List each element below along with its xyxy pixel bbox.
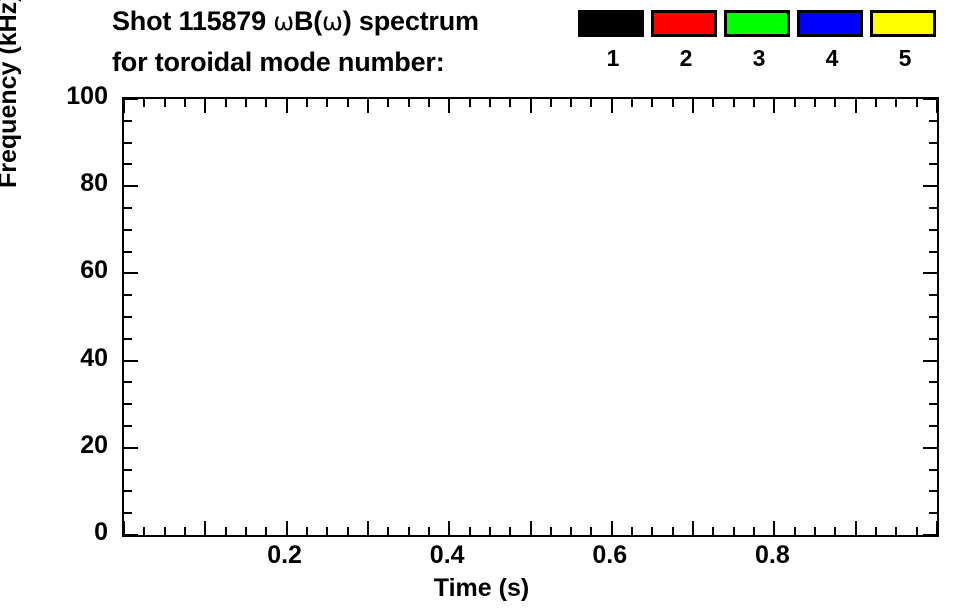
x-tick-label-0.2: 0.2 xyxy=(225,543,345,568)
x-tick-minor-0.850 xyxy=(814,527,816,535)
y-tick-minor-45 xyxy=(124,338,132,340)
x-tick-minor-0.325 xyxy=(387,527,389,535)
x-tick-top-minor-0.525 xyxy=(550,99,552,107)
x-tick-top-minor-0.850 xyxy=(814,99,816,107)
legend-label-3: 3 xyxy=(724,47,794,70)
x-tick-minor-0.750 xyxy=(733,527,735,535)
x-tick-minor-0.475 xyxy=(509,527,511,535)
y-tick-right-minor-30 xyxy=(929,403,937,405)
y-tick-right-major-0 xyxy=(923,534,937,535)
chart-title-line-2: for toroidal mode number: xyxy=(112,47,445,78)
legend-entry-4: 4 xyxy=(797,10,867,70)
x-tick-top-minor-0.475 xyxy=(509,99,511,107)
y-tick-right-minor-95 xyxy=(929,120,937,122)
y-tick-label-20: 20 xyxy=(0,433,108,458)
plot-interior xyxy=(124,99,937,535)
y-tick-minor-65 xyxy=(124,251,132,253)
x-tick-major-0.000 xyxy=(124,521,125,535)
x-tick-top-major-0.400 xyxy=(448,99,450,113)
x-tick-top-minor-0.375 xyxy=(428,99,430,107)
y-tick-minor-50 xyxy=(124,316,132,318)
x-tick-minor-0.575 xyxy=(590,527,592,535)
y-tick-minor-55 xyxy=(124,294,132,296)
y-tick-right-minor-35 xyxy=(929,381,937,383)
x-tick-major-0.900 xyxy=(855,521,857,535)
y-tick-minor-30 xyxy=(124,403,132,405)
y-tick-major-0 xyxy=(124,534,138,535)
x-tick-minor-0.675 xyxy=(672,527,674,535)
x-tick-top-major-0.100 xyxy=(204,99,206,113)
x-tick-minor-0.875 xyxy=(834,527,836,535)
y-tick-right-minor-15 xyxy=(929,469,937,471)
y-tick-right-major-40 xyxy=(923,360,937,362)
legend-entry-1: 1 xyxy=(578,10,648,70)
omega-symbol-1: ω xyxy=(273,7,294,36)
x-tick-top-minor-0.550 xyxy=(570,99,572,107)
y-tick-right-minor-5 xyxy=(929,512,937,514)
legend-label-5: 5 xyxy=(870,47,940,70)
y-tick-major-80 xyxy=(124,185,138,187)
x-tick-minor-0.425 xyxy=(469,527,471,535)
x-tick-minor-0.825 xyxy=(794,527,796,535)
legend-swatch-1 xyxy=(578,10,644,37)
x-tick-major-0.200 xyxy=(286,521,288,535)
y-tick-right-minor-85 xyxy=(929,163,937,165)
x-tick-minor-0.525 xyxy=(550,527,552,535)
x-tick-top-minor-0.050 xyxy=(164,99,166,107)
x-tick-major-0.800 xyxy=(773,521,775,535)
x-tick-top-major-0.600 xyxy=(611,99,613,113)
y-tick-right-minor-90 xyxy=(929,142,937,144)
y-tick-label-40: 40 xyxy=(0,346,108,371)
x-tick-top-minor-0.725 xyxy=(712,99,714,107)
x-tick-top-minor-0.575 xyxy=(590,99,592,107)
x-tick-top-minor-0.325 xyxy=(387,99,389,107)
y-tick-minor-5 xyxy=(124,512,132,514)
x-tick-top-minor-0.950 xyxy=(895,99,897,107)
x-tick-minor-0.450 xyxy=(489,527,491,535)
legend-entry-2: 2 xyxy=(651,10,721,70)
x-tick-minor-0.550 xyxy=(570,527,572,535)
x-tick-top-major-0.300 xyxy=(367,99,369,113)
x-tick-top-minor-0.250 xyxy=(326,99,328,107)
x-tick-major-0.100 xyxy=(204,521,206,535)
x-tick-top-minor-0.450 xyxy=(489,99,491,107)
x-tick-top-minor-0.625 xyxy=(631,99,633,107)
y-tick-major-60 xyxy=(124,272,138,274)
legend-entry-3: 3 xyxy=(724,10,794,70)
title-suffix: ) spectrum xyxy=(343,6,479,36)
x-tick-top-minor-0.150 xyxy=(245,99,247,107)
y-tick-minor-35 xyxy=(124,381,132,383)
x-tick-minor-0.775 xyxy=(753,527,755,535)
y-tick-label-0: 0 xyxy=(0,520,108,545)
x-tick-minor-0.150 xyxy=(245,527,247,535)
x-tick-top-major-0.900 xyxy=(855,99,857,113)
x-tick-top-minor-0.125 xyxy=(225,99,227,107)
x-tick-minor-0.625 xyxy=(631,527,633,535)
x-tick-minor-0.225 xyxy=(306,527,308,535)
x-tick-major-0.500 xyxy=(530,521,532,535)
y-tick-right-major-80 xyxy=(923,185,937,187)
chart-title-line-1: Shot 115879 ωB(ω) spectrum xyxy=(112,6,479,37)
omega-symbol-2: ω xyxy=(322,7,343,36)
y-tick-minor-90 xyxy=(124,142,132,144)
title-mid: B( xyxy=(294,6,322,36)
x-tick-minor-0.050 xyxy=(164,527,166,535)
y-tick-right-minor-55 xyxy=(929,294,937,296)
x-tick-major-0.600 xyxy=(611,521,613,535)
x-tick-minor-0.175 xyxy=(265,527,267,535)
title-prefix: Shot 115879 xyxy=(112,6,273,36)
plot-frame xyxy=(122,97,939,537)
legend-swatch-4 xyxy=(797,10,863,37)
y-tick-label-100: 100 xyxy=(0,84,108,109)
y-tick-minor-15 xyxy=(124,469,132,471)
y-tick-minor-10 xyxy=(124,490,132,492)
y-tick-right-minor-10 xyxy=(929,490,937,492)
x-tick-major-1.000 xyxy=(936,521,937,535)
x-tick-minor-0.125 xyxy=(225,527,227,535)
x-tick-label-0.4: 0.4 xyxy=(387,543,507,568)
x-tick-top-major-0.700 xyxy=(692,99,694,113)
x-tick-minor-0.950 xyxy=(895,527,897,535)
x-tick-minor-0.650 xyxy=(651,527,653,535)
x-tick-major-0.700 xyxy=(692,521,694,535)
x-tick-minor-0.025 xyxy=(143,527,145,535)
legend-swatch-2 xyxy=(651,10,717,37)
x-tick-label-0.6: 0.6 xyxy=(550,543,670,568)
x-tick-minor-0.975 xyxy=(916,527,918,535)
x-tick-major-0.400 xyxy=(448,521,450,535)
x-tick-top-major-0.000 xyxy=(124,99,125,113)
y-tick-major-100 xyxy=(124,99,138,100)
legend-swatch-5 xyxy=(870,10,936,37)
legend-label-4: 4 xyxy=(797,47,867,70)
legend-entry-5: 5 xyxy=(870,10,940,70)
y-tick-right-minor-25 xyxy=(929,425,937,427)
x-tick-top-major-0.500 xyxy=(530,99,532,113)
y-tick-right-minor-75 xyxy=(929,207,937,209)
x-tick-minor-0.275 xyxy=(347,527,349,535)
y-tick-major-40 xyxy=(124,360,138,362)
legend-label-1: 1 xyxy=(578,47,648,70)
legend-label-2: 2 xyxy=(651,47,721,70)
x-tick-top-minor-0.825 xyxy=(794,99,796,107)
y-tick-right-minor-70 xyxy=(929,229,937,231)
y-tick-minor-95 xyxy=(124,120,132,122)
x-tick-label-0.8: 0.8 xyxy=(712,543,832,568)
x-tick-top-minor-0.875 xyxy=(834,99,836,107)
y-tick-label-80: 80 xyxy=(0,171,108,196)
x-tick-top-major-1.000 xyxy=(936,99,937,113)
x-tick-top-major-0.800 xyxy=(773,99,775,113)
x-tick-top-minor-0.650 xyxy=(651,99,653,107)
legend-swatch-3 xyxy=(724,10,790,37)
x-tick-top-minor-0.975 xyxy=(916,99,918,107)
x-tick-top-minor-0.750 xyxy=(733,99,735,107)
y-tick-minor-85 xyxy=(124,163,132,165)
y-tick-right-major-20 xyxy=(923,447,937,449)
x-tick-minor-0.725 xyxy=(712,527,714,535)
x-tick-minor-0.375 xyxy=(428,527,430,535)
x-tick-top-major-0.200 xyxy=(286,99,288,113)
y-tick-label-60: 60 xyxy=(0,258,108,283)
y-tick-minor-25 xyxy=(124,425,132,427)
x-tick-minor-0.250 xyxy=(326,527,328,535)
x-tick-top-minor-0.225 xyxy=(306,99,308,107)
y-tick-right-major-100 xyxy=(923,99,937,100)
x-tick-top-minor-0.675 xyxy=(672,99,674,107)
y-tick-major-20 xyxy=(124,447,138,449)
x-tick-minor-0.075 xyxy=(184,527,186,535)
y-tick-right-major-60 xyxy=(923,272,937,274)
x-tick-top-minor-0.350 xyxy=(408,99,410,107)
x-tick-top-minor-0.775 xyxy=(753,99,755,107)
x-tick-top-minor-0.425 xyxy=(469,99,471,107)
y-tick-right-minor-50 xyxy=(929,316,937,318)
x-tick-minor-0.350 xyxy=(408,527,410,535)
x-tick-top-minor-0.275 xyxy=(347,99,349,107)
y-tick-minor-75 xyxy=(124,207,132,209)
y-tick-right-minor-65 xyxy=(929,251,937,253)
y-tick-right-minor-45 xyxy=(929,338,937,340)
x-tick-minor-0.925 xyxy=(875,527,877,535)
x-axis-title: Time (s) xyxy=(0,574,963,603)
x-tick-top-minor-0.075 xyxy=(184,99,186,107)
x-tick-top-minor-0.925 xyxy=(875,99,877,107)
x-tick-major-0.300 xyxy=(367,521,369,535)
x-tick-top-minor-0.025 xyxy=(143,99,145,107)
legend: 12345 xyxy=(578,10,938,92)
x-tick-top-minor-0.175 xyxy=(265,99,267,107)
y-tick-minor-70 xyxy=(124,229,132,231)
